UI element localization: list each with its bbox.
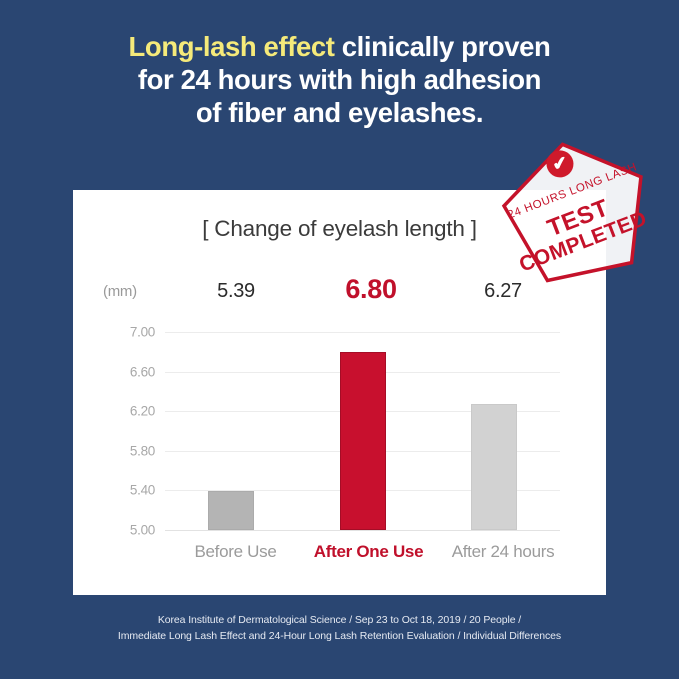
y-axis-tick-label: 7.00 [130,325,155,340]
category-label-before-use: Before Use [168,542,303,562]
footnote-line-1: Korea Institute of Dermatological Scienc… [0,613,679,629]
gridline: 5.00 [165,530,560,531]
bar-after-one-use [340,352,386,530]
gridline: 7.00 [165,332,560,333]
headline-line-2: for 24 hours with high adhesion [0,63,679,96]
y-axis-tick-label: 5.80 [130,443,155,458]
headline-line-1: Long-lash effect clinically proven [0,30,679,63]
y-axis-tick-label: 6.20 [130,404,155,419]
bar-before-use [208,491,254,530]
footnote-line-2: Immediate Long Lash Effect and 24-Hour L… [0,629,679,645]
headline-line-3: of fiber and eyelashes. [0,96,679,129]
bar-chart-plot-area: 7.006.606.205.805.405.00 [165,332,560,530]
unit-label: (mm) [103,283,137,300]
test-completed-stamp: ✔ 24 HOURS LONG LASH TEST COMPLETED [489,125,662,291]
footnote: Korea Institute of Dermatological Scienc… [0,613,679,644]
headline-accent-text: Long-lash effect [129,31,335,62]
y-axis-tick-label: 5.00 [130,523,155,538]
headline-line-1-rest: clinically proven [335,31,551,62]
category-label-after-one-use: After One Use [301,542,436,562]
value-label-before-use: 5.39 [181,280,291,303]
y-axis-tick-label: 5.40 [130,483,155,498]
category-label-after-24-hours: After 24 hours [433,542,573,562]
value-label-after-one-use: 6.80 [311,274,431,305]
y-axis-tick-label: 6.60 [130,364,155,379]
headline: Long-lash effect clinically proven for 2… [0,30,679,129]
bar-after-24-hours [471,404,517,530]
